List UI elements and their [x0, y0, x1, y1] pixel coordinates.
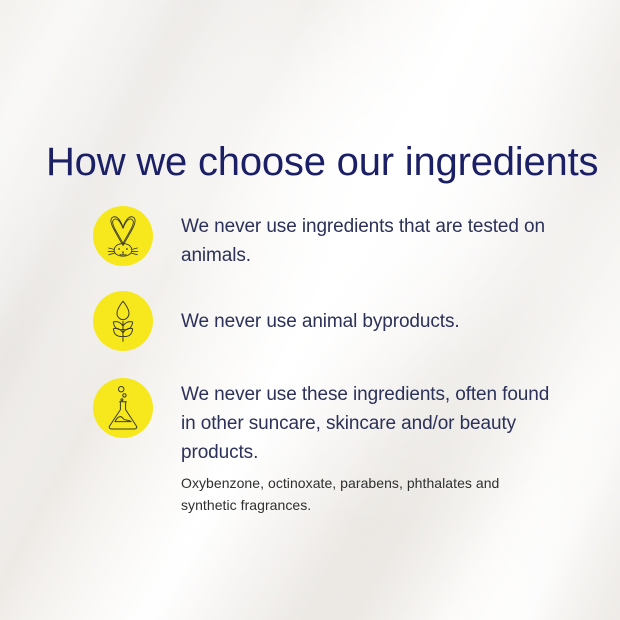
icon-badge [93, 378, 153, 438]
erlenmeyer-flask-icon [105, 385, 141, 431]
list-item-text: We never use ingredients that are tested… [181, 212, 563, 270]
page-title: How we choose our ingredients [46, 137, 598, 187]
icon-badge [93, 206, 153, 266]
list-item-subtext: Oxybenzone, octinoxate, parabens, phthal… [181, 472, 541, 516]
bunny-heart-ears-icon [103, 213, 143, 259]
list-item-text: We never use animal byproducts. [181, 307, 563, 336]
poster-content: How we choose our ingredients [0, 0, 620, 620]
plant-droplet-icon [104, 299, 142, 343]
icon-badge [93, 291, 153, 351]
ingredient-philosophy-poster: How we choose our ingredients [0, 0, 620, 620]
list-item-text: We never use these ingredients, often fo… [181, 380, 563, 467]
